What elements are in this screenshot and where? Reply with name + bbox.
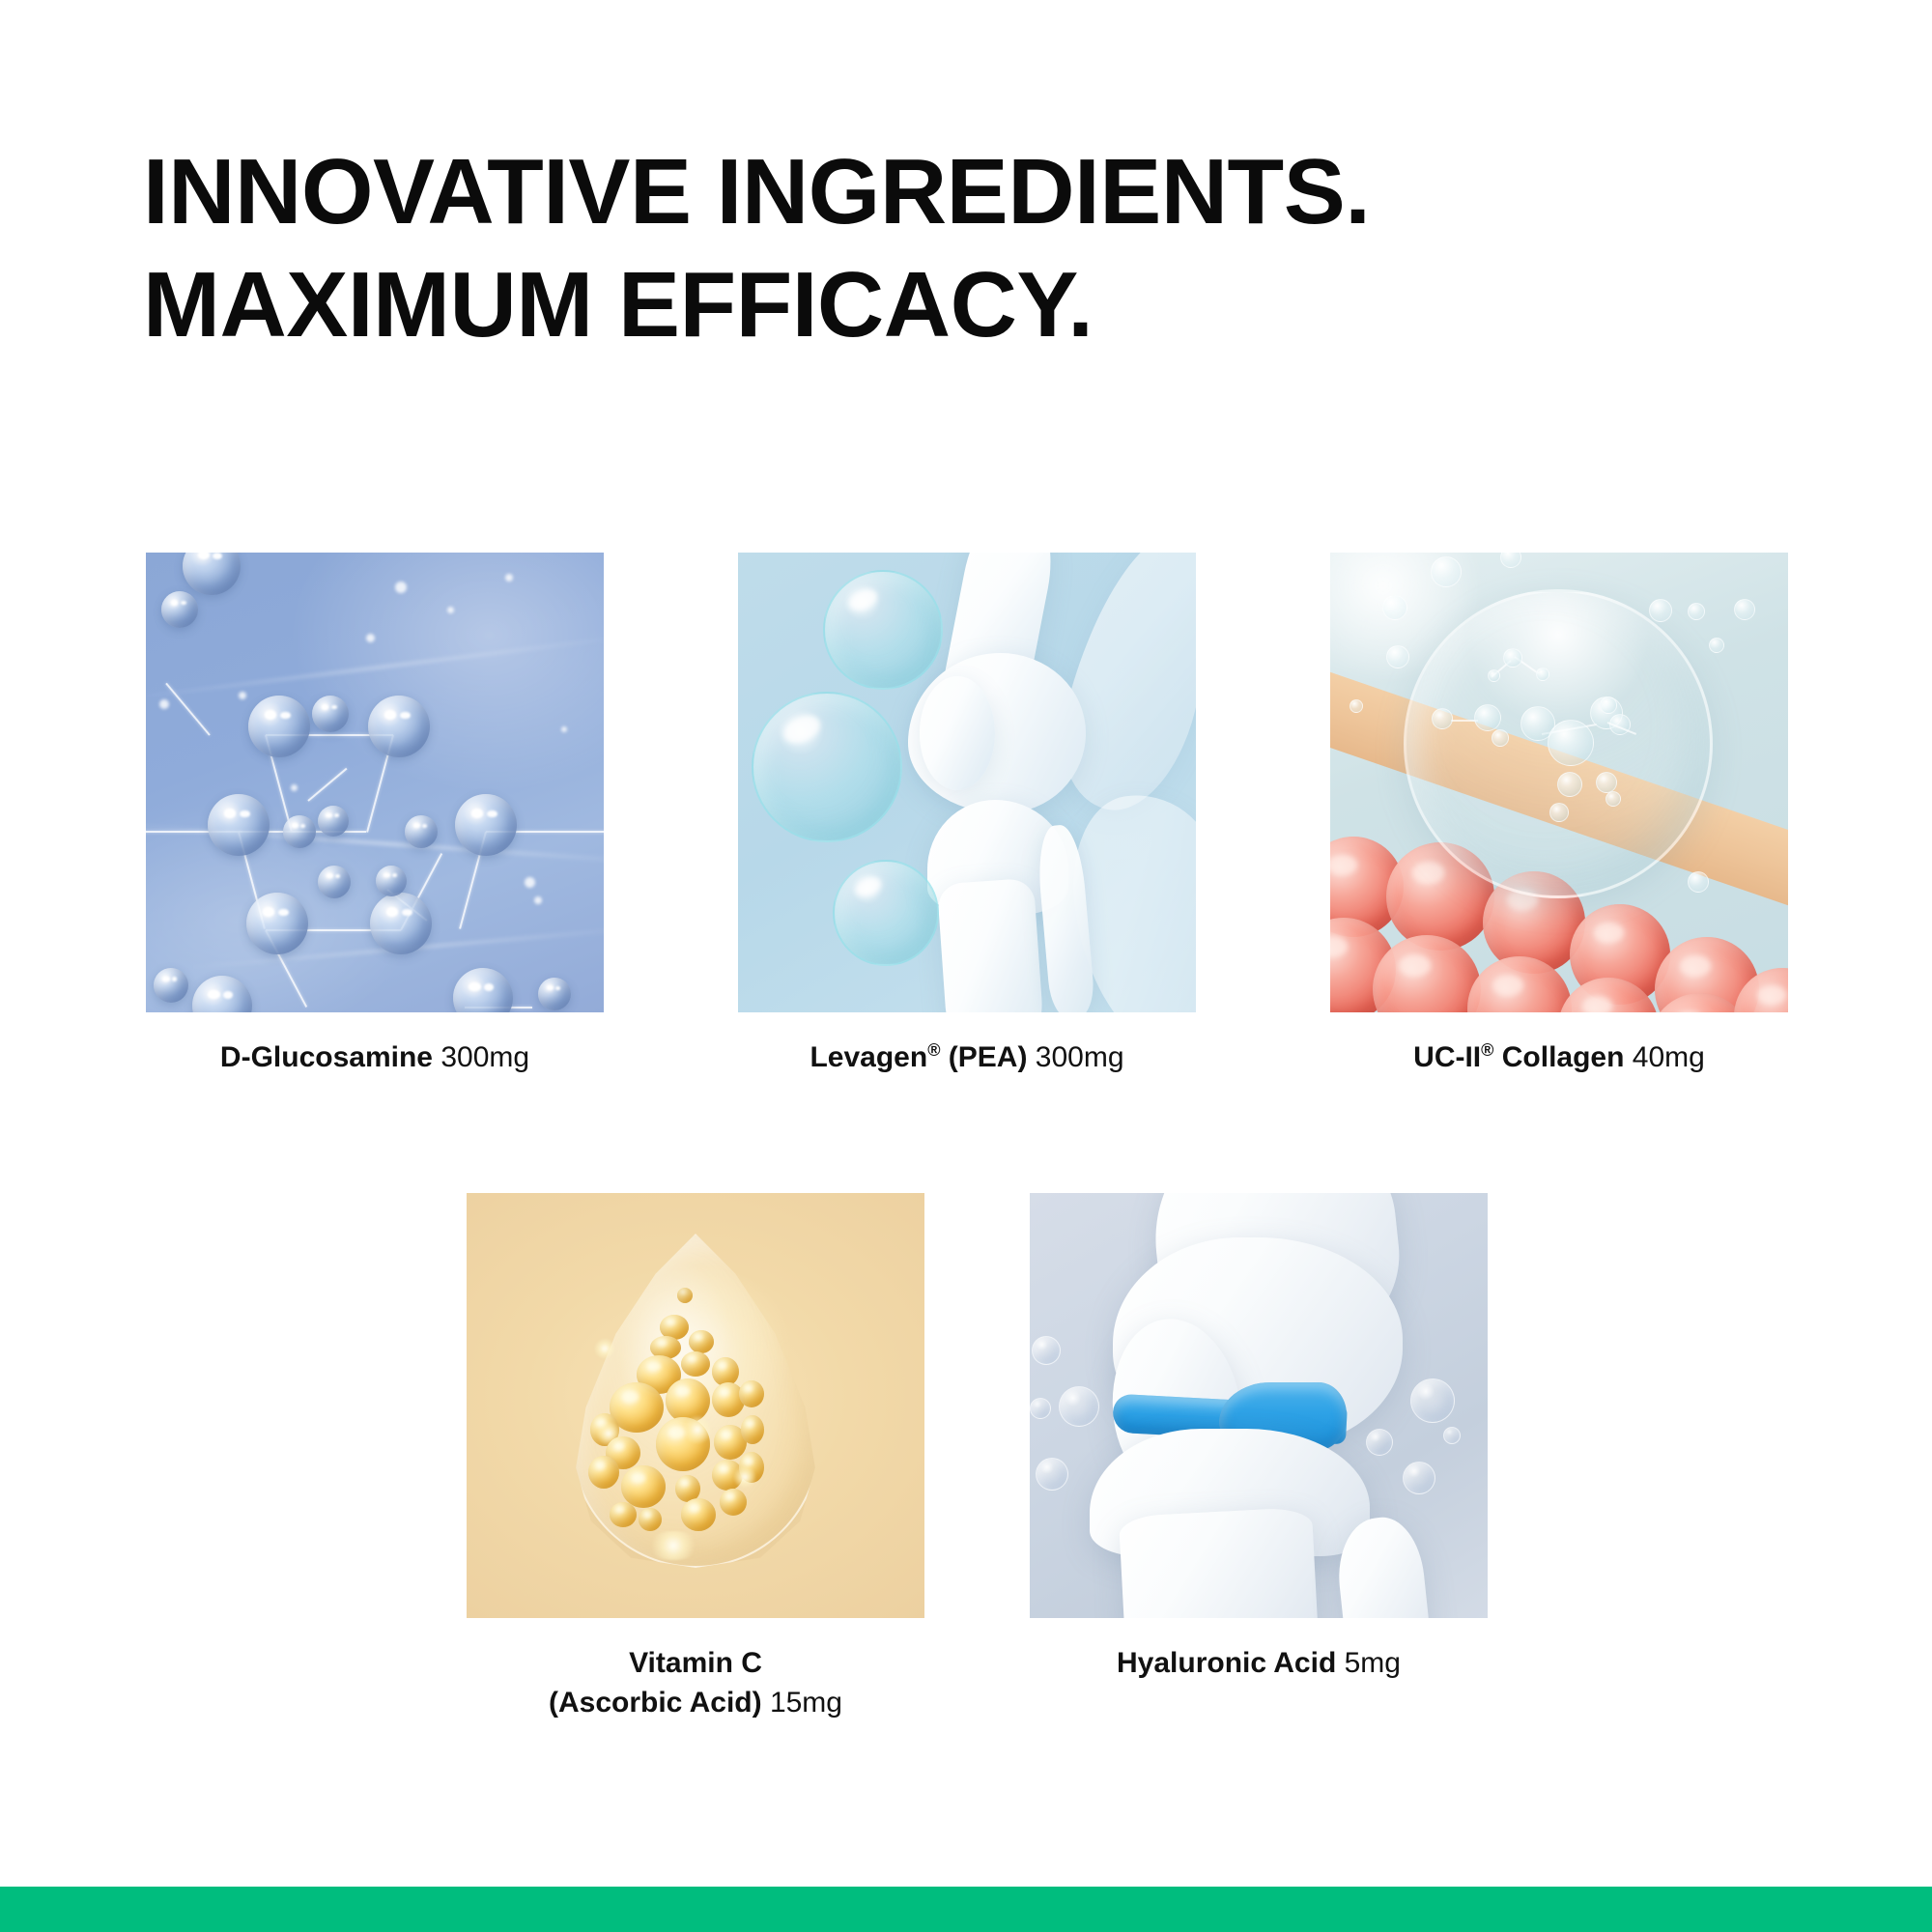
ingredient-row-bottom: Vitamin C (Ascorbic Acid) 15mg xyxy=(444,1193,1488,1723)
footer-accent-bar xyxy=(0,1887,1932,1932)
headline-line-2: MAXIMUM EFFICACY. xyxy=(143,248,1843,361)
collagen-sphere-cells-image xyxy=(1330,553,1788,1012)
molecule-lattice-image xyxy=(146,553,604,1012)
golden-droplet-image xyxy=(467,1193,924,1618)
ingredient-name: Hyaluronic Acid xyxy=(1117,1647,1336,1679)
ingredient-row-top: D-Glucosamine 300mg xyxy=(146,553,1788,1077)
ingredient-card-d-glucosamine: D-Glucosamine 300mg xyxy=(146,553,604,1077)
ingredient-caption: D-Glucosamine 300mg xyxy=(220,1037,529,1077)
knee-bones-bubbles-image xyxy=(738,553,1196,1012)
ingredient-caption: UC-II® Collagen 40mg xyxy=(1413,1037,1705,1077)
ingredient-caption: Vitamin C (Ascorbic Acid) 15mg xyxy=(444,1643,947,1723)
ingredient-dose: 5mg xyxy=(1345,1647,1401,1679)
ingredient-name: D-Glucosamine xyxy=(220,1041,433,1073)
page-title: INNOVATIVE INGREDIENTS. MAXIMUM EFFICACY… xyxy=(143,135,1843,361)
ingredients-infographic: INNOVATIVE INGREDIENTS. MAXIMUM EFFICACY… xyxy=(0,0,1932,1932)
ingredient-dose: 300mg xyxy=(440,1041,529,1073)
ingredient-dose: 300mg xyxy=(1036,1041,1124,1073)
ingredient-name: Vitamin C xyxy=(629,1647,762,1679)
ingredient-card-uc-ii-collagen: UC-II® Collagen 40mg xyxy=(1330,553,1788,1077)
ingredient-name-suffix: Collagen xyxy=(1493,1041,1624,1073)
ingredient-dose: 15mg xyxy=(770,1687,842,1719)
ingredient-name: Levagen xyxy=(810,1041,927,1073)
ingredient-card-vitamin-c: Vitamin C (Ascorbic Acid) 15mg xyxy=(444,1193,947,1723)
registered-trademark-icon: ® xyxy=(1481,1040,1493,1060)
ingredient-card-levagen-pea: Levagen® (PEA) 300mg xyxy=(738,553,1196,1077)
headline-line-1: INNOVATIVE INGREDIENTS. xyxy=(143,135,1843,248)
ingredient-name-suffix: (PEA) xyxy=(940,1041,1027,1073)
ingredient-card-hyaluronic-acid: Hyaluronic Acid 5mg xyxy=(1030,1193,1488,1723)
knee-cartilage-image xyxy=(1030,1193,1488,1618)
registered-trademark-icon: ® xyxy=(927,1040,940,1060)
ingredient-name-line2: (Ascorbic Acid) xyxy=(549,1687,762,1719)
ingredient-caption: Hyaluronic Acid 5mg xyxy=(1117,1643,1401,1683)
ingredient-name: UC-II xyxy=(1413,1041,1481,1073)
ingredient-caption: Levagen® (PEA) 300mg xyxy=(810,1037,1123,1077)
ingredient-dose: 40mg xyxy=(1633,1041,1705,1073)
